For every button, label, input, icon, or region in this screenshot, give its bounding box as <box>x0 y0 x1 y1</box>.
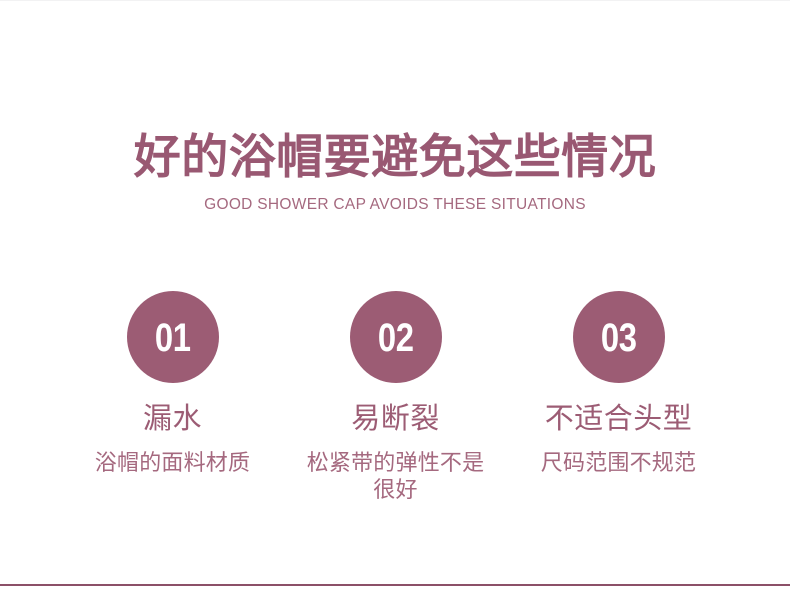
number-badge-03: 03 <box>573 291 665 383</box>
number-badge-02: 02 <box>350 291 442 383</box>
feature-heading-03: 不适合头型 <box>507 401 730 437</box>
page-subtitle: GOOD SHOWER CAP AVOIDS THESE SITUATIONS <box>0 195 790 215</box>
feature-description-01: 浴帽的面料材质 <box>61 449 284 476</box>
header-block: 好的浴帽要避免这些情况 GOOD SHOWER CAP AVOIDS THESE… <box>0 128 790 215</box>
feature-heading-01: 漏水 <box>61 401 284 437</box>
feature-item-03: 03 不适合头型 尺码范围不规范 <box>507 291 730 476</box>
page-title: 好的浴帽要避免这些情况 <box>0 128 790 186</box>
promo-banner: 好的浴帽要避免这些情况 GOOD SHOWER CAP AVOIDS THESE… <box>0 0 790 589</box>
feature-heading-02: 易断裂 <box>284 401 507 437</box>
feature-description-03: 尺码范围不规范 <box>507 449 730 476</box>
number-badge-01: 01 <box>127 291 219 383</box>
feature-description-02: 松紧带的弹性不是很好 <box>284 449 507 503</box>
bottom-divider <box>0 584 790 586</box>
top-hairline-divider <box>0 0 790 1</box>
feature-item-02: 02 易断裂 松紧带的弹性不是很好 <box>284 291 507 503</box>
badge-number-label: 01 <box>155 318 191 358</box>
feature-columns: 01 漏水 浴帽的面料材质 02 易断裂 松紧带的弹性不是很好 03 不适合头型… <box>0 291 790 503</box>
badge-number-label: 03 <box>601 318 637 358</box>
badge-number-label: 02 <box>378 318 414 358</box>
feature-item-01: 01 漏水 浴帽的面料材质 <box>61 291 284 476</box>
